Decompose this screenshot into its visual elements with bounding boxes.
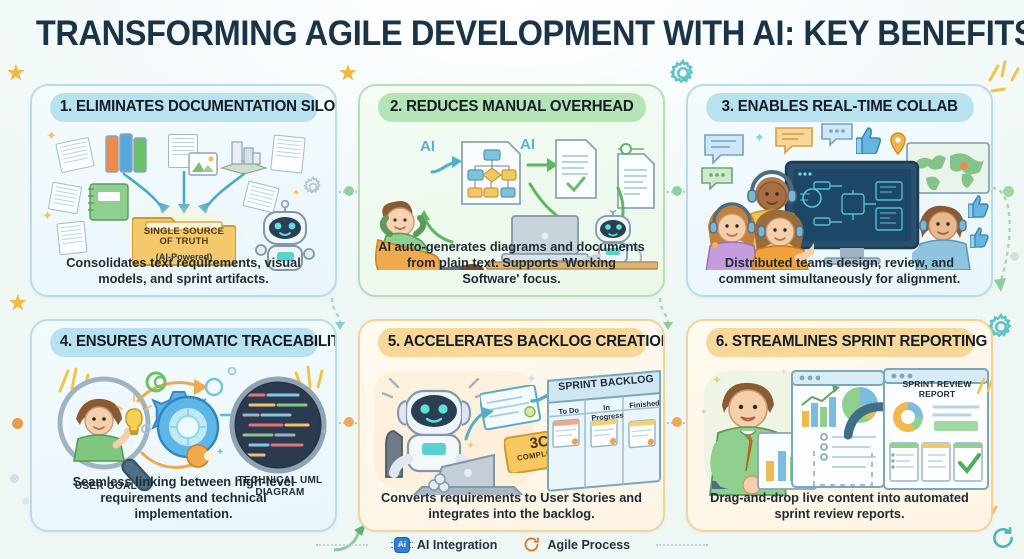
panel-6-illustration: SPRINT REVIEW REPORT ✦ ✦ ✦ — [696, 357, 983, 490]
document-icon — [270, 134, 306, 173]
chat-bubble-dots-icon — [820, 122, 854, 148]
sparkle-icon: ✦ — [754, 130, 765, 146]
binders-icon — [104, 132, 152, 174]
chat-bubble-icon — [774, 126, 814, 156]
ai-chip-icon: AI — [394, 537, 410, 553]
panel-2-caption: AI auto-generates diagrams and documents… — [372, 239, 650, 289]
drop-zone-icon — [812, 449, 876, 491]
connector-dot — [22, 498, 29, 505]
benefit-panel-6[interactable]: 6. STREAMLINES SPRINT REPORTING — [686, 319, 993, 532]
legend-item-agile-process[interactable]: Agile Process — [523, 536, 630, 553]
panel-4-illustration: USER GOAL TECHNICAL UML DIAGRAM ✦ ✦ — [40, 357, 327, 474]
panel-6-caption: Drag-and-drop live content into automate… — [700, 490, 978, 524]
sparkle-icon: ✦ — [466, 439, 475, 452]
agile-cycle-icon — [523, 536, 540, 553]
sparkle-icon: ✦ — [42, 208, 53, 224]
sparkle-icon: ✦ — [292, 188, 300, 199]
panel-6-header: 6. STREAMLINES SPRINT REPORTING — [706, 328, 973, 357]
panel-2-illustration: AI AI — [368, 122, 655, 239]
sparkle-icon: ✦ — [712, 373, 722, 387]
benefit-panel-3[interactable]: 3. ENABLES REAL-TIME COLLAB — [686, 84, 993, 297]
legend-bar: AI AI Integration Agile Process — [0, 536, 1024, 553]
panel-1-illustration: SINGLE SOURCE OF TRUTH (AI-Powered) ✦ ✦ … — [40, 122, 327, 255]
benefit-panel-5[interactable]: 5. ACCELERATES BACKLOG CREATION — [358, 319, 665, 532]
panel-5-illustration: 3C COMPLIANT — [368, 357, 655, 490]
star-decoration-icon: ★ — [6, 62, 26, 84]
ai-tag-label: AI — [420, 138, 435, 155]
connector-dot — [10, 474, 19, 483]
panel-5-header: 5. ACCELERATES BACKLOG CREATION — [378, 328, 645, 357]
connector-dot — [12, 418, 23, 429]
legend-label-ai: AI Integration — [417, 538, 498, 552]
sparkle-icon: ✦ — [320, 427, 328, 438]
panel-1-caption: Consolidates text requirements, visual m… — [44, 255, 322, 289]
thumbs-up-icon — [856, 126, 882, 154]
dot-decoration — [712, 242, 718, 248]
gear-icon — [302, 176, 324, 198]
title-bar: TRANSFORMING AGILE DEVELOPMENT WITH AI: … — [0, 14, 1024, 54]
report-title: SPRINT REVIEW REPORT — [888, 379, 986, 399]
sparkle-icon: ✦ — [526, 371, 537, 387]
legend-label-agile: Agile Process — [547, 538, 630, 552]
legend-dots-left — [316, 544, 368, 546]
ai-tag-label: AI — [520, 136, 535, 153]
panel-3-illustration: ✦ — [696, 122, 983, 255]
connector-dot — [1003, 186, 1014, 197]
document-icon — [55, 137, 94, 173]
star-decoration-icon: ★ — [8, 292, 28, 314]
panel-4-header: 4. ENSURES AUTOMATIC TRACEABILITY — [50, 328, 317, 357]
panel-2-header: 2. REDUCES MANUAL OVERHEAD — [378, 93, 645, 122]
uml-code-circle-icon — [228, 375, 328, 479]
benefits-grid: 1. ELIMINATES DOCUMENTATION SILOS — [30, 84, 994, 532]
star-decoration-icon: ★ — [338, 62, 358, 84]
chat-bubble-icon — [702, 132, 746, 166]
panel-3-caption: Distributed teams design, review, and co… — [700, 255, 978, 289]
board-column-finished: Finished — [625, 398, 664, 419]
sparkle-icon: ✦ — [216, 447, 224, 458]
page-title: TRANSFORMING AGILE DEVELOPMENT WITH AI: … — [36, 14, 988, 54]
toggle-icon — [616, 142, 646, 156]
panel-1-header: 1. ELIMINATES DOCUMENTATION SILOS — [50, 93, 317, 122]
legend-item-ai-integration[interactable]: AI AI Integration — [394, 537, 498, 553]
board-column-inprogress: In Progress — [587, 401, 626, 422]
connector-dot — [1010, 252, 1019, 261]
folder-label: SINGLE SOURCE OF TRUTH — [134, 226, 234, 247]
sparkle-burst-icon — [974, 373, 993, 399]
sparkle-icon: ✦ — [46, 128, 57, 144]
map-pin-icon — [890, 132, 906, 156]
legend-dots-right — [656, 544, 708, 546]
sparkle-icon: ✦ — [700, 407, 708, 418]
chat-bubble-dots-icon — [700, 166, 734, 192]
3d-model-icon — [218, 134, 270, 174]
panel-4-caption: Seamless linking between high-level requ… — [44, 474, 322, 524]
benefit-panel-1[interactable]: 1. ELIMINATES DOCUMENTATION SILOS — [30, 84, 337, 297]
panel-3-header: 3. ENABLES REAL-TIME COLLAB — [706, 93, 973, 122]
arrow-right-icon — [430, 154, 464, 176]
sparkle-icon: ✦ — [780, 367, 788, 378]
benefit-panel-4[interactable]: 4. ENSURES AUTOMATIC TRACEABILITY — [30, 319, 337, 532]
panel-5-caption: Converts requirements to User Stories an… — [372, 490, 650, 524]
document-icon — [56, 221, 87, 256]
benefit-panel-2[interactable]: 2. REDUCES MANUAL OVERHEAD AI AI — [358, 84, 665, 297]
board-column-todo: To Do — [549, 405, 588, 426]
arrow-up-icon — [460, 405, 494, 443]
